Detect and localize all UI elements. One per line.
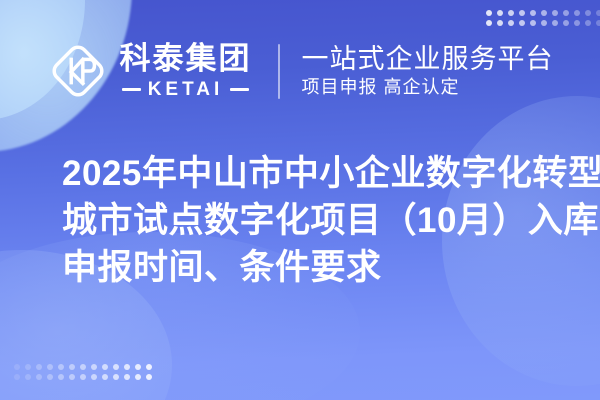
dot	[146, 374, 152, 380]
dot	[585, 20, 591, 26]
dot	[69, 364, 75, 370]
banner-header: 科泰集团 KETAI 一站式企业服务平台 项目申报 高企认定	[0, 33, 600, 109]
dot	[486, 20, 492, 26]
dot	[574, 20, 580, 26]
dot	[58, 374, 64, 380]
page-title: 2025年中山市中小企业数字化转型 城市试点数字化项目（10月）入库 申报时间、…	[62, 150, 562, 291]
dot	[508, 10, 514, 16]
dot	[508, 20, 514, 26]
dot	[585, 10, 591, 16]
brand-rule-left-icon	[122, 88, 141, 91]
dot	[124, 374, 130, 380]
title-line-3: 申报时间、条件要求	[62, 244, 562, 291]
dot	[519, 10, 525, 16]
dot	[552, 20, 558, 26]
dot	[497, 10, 503, 16]
dot	[530, 10, 536, 16]
header-divider	[278, 44, 280, 99]
dot	[563, 20, 569, 26]
title-line-2: 城市试点数字化项目（10月）入库	[62, 197, 562, 244]
slogan-secondary: 项目申报 高企认定	[302, 78, 554, 97]
dot	[91, 374, 97, 380]
dot	[102, 364, 108, 370]
dot	[541, 20, 547, 26]
dot	[102, 374, 108, 380]
dot	[135, 374, 141, 380]
dot	[596, 20, 600, 26]
ketai-diamond-logo-icon	[47, 40, 109, 102]
dot	[552, 10, 558, 16]
dot	[69, 374, 75, 380]
brand-lockup: 科泰集团 KETAI	[47, 40, 252, 102]
dot	[486, 10, 492, 16]
dot	[113, 364, 119, 370]
dot	[14, 364, 20, 370]
dot	[36, 374, 42, 380]
dot	[530, 20, 536, 26]
dot	[25, 364, 31, 370]
dot	[47, 374, 53, 380]
promo-banner: 科泰集团 KETAI 一站式企业服务平台 项目申报 高企认定 2025年中山市中…	[0, 0, 600, 400]
dot	[563, 10, 569, 16]
dot-grid-top-right-icon	[486, 10, 600, 26]
dot	[36, 364, 42, 370]
brand-name-en-row: KETAI	[122, 80, 250, 99]
dot	[135, 364, 141, 370]
slogan-primary: 一站式企业服务平台	[302, 45, 554, 73]
dot	[146, 364, 152, 370]
dot	[519, 20, 525, 26]
dot	[80, 374, 86, 380]
dot	[124, 364, 130, 370]
dot	[25, 374, 31, 380]
dot	[574, 10, 580, 16]
dot	[497, 20, 503, 26]
dot	[80, 364, 86, 370]
dot	[14, 374, 20, 380]
dot	[58, 364, 64, 370]
dot	[596, 10, 600, 16]
dot-grid-bottom-left-icon	[14, 364, 152, 380]
slogan-block: 一站式企业服务平台 项目申报 高企认定	[302, 45, 554, 97]
dot	[113, 374, 119, 380]
brand-rule-right-icon	[230, 88, 249, 91]
dot	[47, 364, 53, 370]
dot	[91, 364, 97, 370]
brand-wordmark: 科泰集团 KETAI	[120, 43, 252, 99]
title-line-1: 2025年中山市中小企业数字化转型	[62, 150, 562, 197]
brand-name-en: KETAI	[148, 80, 224, 99]
dot	[541, 10, 547, 16]
brand-name-cn: 科泰集团	[120, 43, 252, 74]
